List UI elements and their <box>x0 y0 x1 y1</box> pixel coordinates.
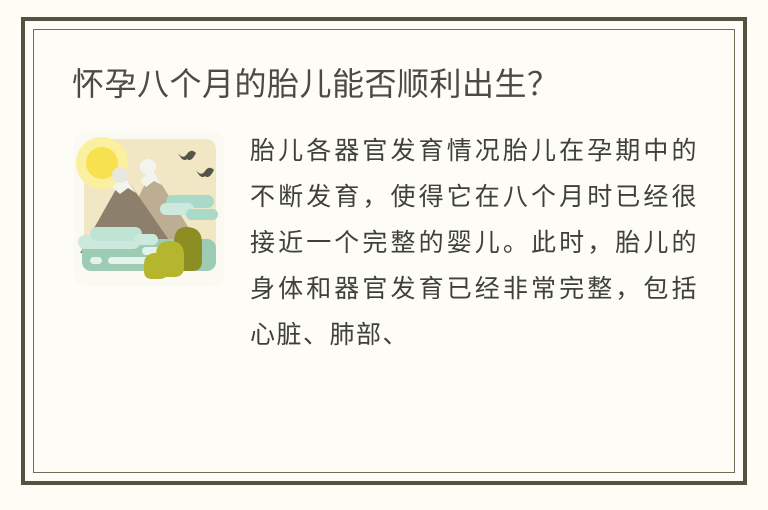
landscape-svg <box>74 131 224 286</box>
mountain-landscape-illustration <box>74 131 224 286</box>
decorative-outer-frame: 怀孕八个月的胎儿能否顺利出生？ <box>21 17 747 485</box>
tree <box>144 253 168 279</box>
article-body: 胎儿各器官发育情况胎儿在孕期中的不断发育，使得它在八个月时已经很接近一个完整的婴… <box>70 128 698 358</box>
article-paragraph: 胎儿各器官发育情况胎儿在孕期中的不断发育，使得它在八个月时已经很接近一个完整的婴… <box>250 128 698 358</box>
decorative-inner-frame: 怀孕八个月的胎儿能否顺利出生？ <box>33 29 735 473</box>
cloud-highlight <box>90 257 102 264</box>
cloud <box>134 234 158 245</box>
page-title: 怀孕八个月的胎儿能否顺利出生？ <box>70 62 698 106</box>
article-container: 怀孕八个月的胎儿能否顺利出生？ <box>34 30 734 472</box>
cloud <box>186 209 218 220</box>
